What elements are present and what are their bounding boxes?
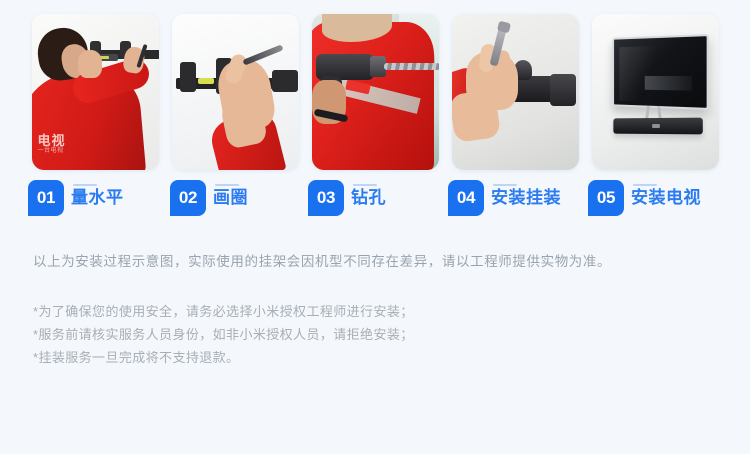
disclaimer-note: 以上为安装过程示意图，实际使用的挂架会因机型不同存在差异，请以工程师提供实物为准… bbox=[33, 250, 723, 270]
step-label-wrap-5: 安装电视 bbox=[631, 180, 701, 208]
step-tick-4 bbox=[493, 184, 517, 186]
step-label-2: 02 画圈 bbox=[170, 180, 248, 216]
fine-print-line-3: *挂装服务一旦完成将不支持退款。 bbox=[33, 346, 723, 369]
uniform-logo-text: 电视 一台电视 bbox=[38, 134, 66, 154]
installation-steps-page: 电视 一台电视 bbox=[0, 0, 750, 454]
step-photo-2 bbox=[172, 14, 299, 170]
step-text-5: 安装电视 bbox=[631, 188, 701, 207]
photo-scene-measuring-level: 电视 一台电视 bbox=[32, 14, 159, 170]
fine-print-block: *为了确保您的使用安全，请务必选择小米授权工程师进行安装； *服务前请核实服务人… bbox=[33, 300, 723, 369]
step-label-wrap-2: 画圈 bbox=[213, 180, 248, 208]
step-photo-3 bbox=[312, 14, 439, 170]
screen-glare bbox=[619, 46, 665, 102]
step-labels-row: 01 量水平 02 画圈 03 钻孔 04 安装挂装 bbox=[0, 180, 750, 222]
technician-hand-left bbox=[78, 50, 102, 78]
photo-scene-marking-holes bbox=[172, 14, 299, 170]
step-label-3: 03 钻孔 bbox=[308, 180, 386, 216]
step-text-2: 画圈 bbox=[213, 188, 248, 207]
soundbar-indicator bbox=[652, 124, 660, 128]
step-badge-1: 01 bbox=[28, 180, 64, 216]
step-label-1: 01 量水平 bbox=[28, 180, 124, 216]
photo-scene-drilling bbox=[312, 14, 439, 170]
step-label-wrap-1: 量水平 bbox=[71, 180, 124, 208]
step-label-5: 05 安装电视 bbox=[588, 180, 701, 216]
step-tick-1 bbox=[73, 184, 97, 186]
step-tick-5 bbox=[633, 184, 657, 186]
uniform-logo-main: 电视 bbox=[38, 133, 66, 148]
marker-pen bbox=[242, 44, 283, 65]
bracket-plate-right bbox=[272, 70, 298, 92]
screen-reflection bbox=[644, 76, 691, 91]
step-text-4: 安装挂装 bbox=[491, 188, 561, 207]
television bbox=[612, 34, 708, 110]
step-text-3: 钻孔 bbox=[351, 188, 386, 207]
step-tick-3 bbox=[353, 184, 377, 186]
step-tick-2 bbox=[215, 184, 239, 186]
step-photo-4 bbox=[452, 14, 579, 170]
step-badge-2: 02 bbox=[170, 180, 206, 216]
step-photo-1: 电视 一台电视 bbox=[32, 14, 159, 170]
fine-print-line-1: *为了确保您的使用安全，请务必选择小米授权工程师进行安装； bbox=[33, 300, 723, 323]
wall-mount-arm bbox=[550, 74, 576, 106]
soundbar bbox=[613, 118, 702, 135]
uniform-logo-sub: 一台电视 bbox=[38, 148, 66, 154]
fine-print-line-2: *服务前请核实服务人员身份，如非小米授权人员，请拒绝安装； bbox=[33, 323, 723, 346]
step-label-4: 04 安装挂装 bbox=[448, 180, 561, 216]
step-label-wrap-3: 钻孔 bbox=[351, 180, 386, 208]
bracket-plate-left bbox=[180, 62, 196, 92]
step-badge-4: 04 bbox=[448, 180, 484, 216]
spirit-level-vial bbox=[198, 78, 214, 84]
step-badge-5: 05 bbox=[588, 180, 624, 216]
photo-scene-installing-mount bbox=[452, 14, 579, 170]
step-photo-strip: 电视 一台电视 bbox=[0, 14, 750, 172]
photo-scene-mounted-tv bbox=[592, 14, 719, 170]
step-badge-3: 03 bbox=[308, 180, 344, 216]
drill-bit bbox=[384, 63, 439, 70]
step-label-wrap-4: 安装挂装 bbox=[491, 180, 561, 208]
step-text-1: 量水平 bbox=[71, 188, 124, 207]
step-photo-5 bbox=[592, 14, 719, 170]
